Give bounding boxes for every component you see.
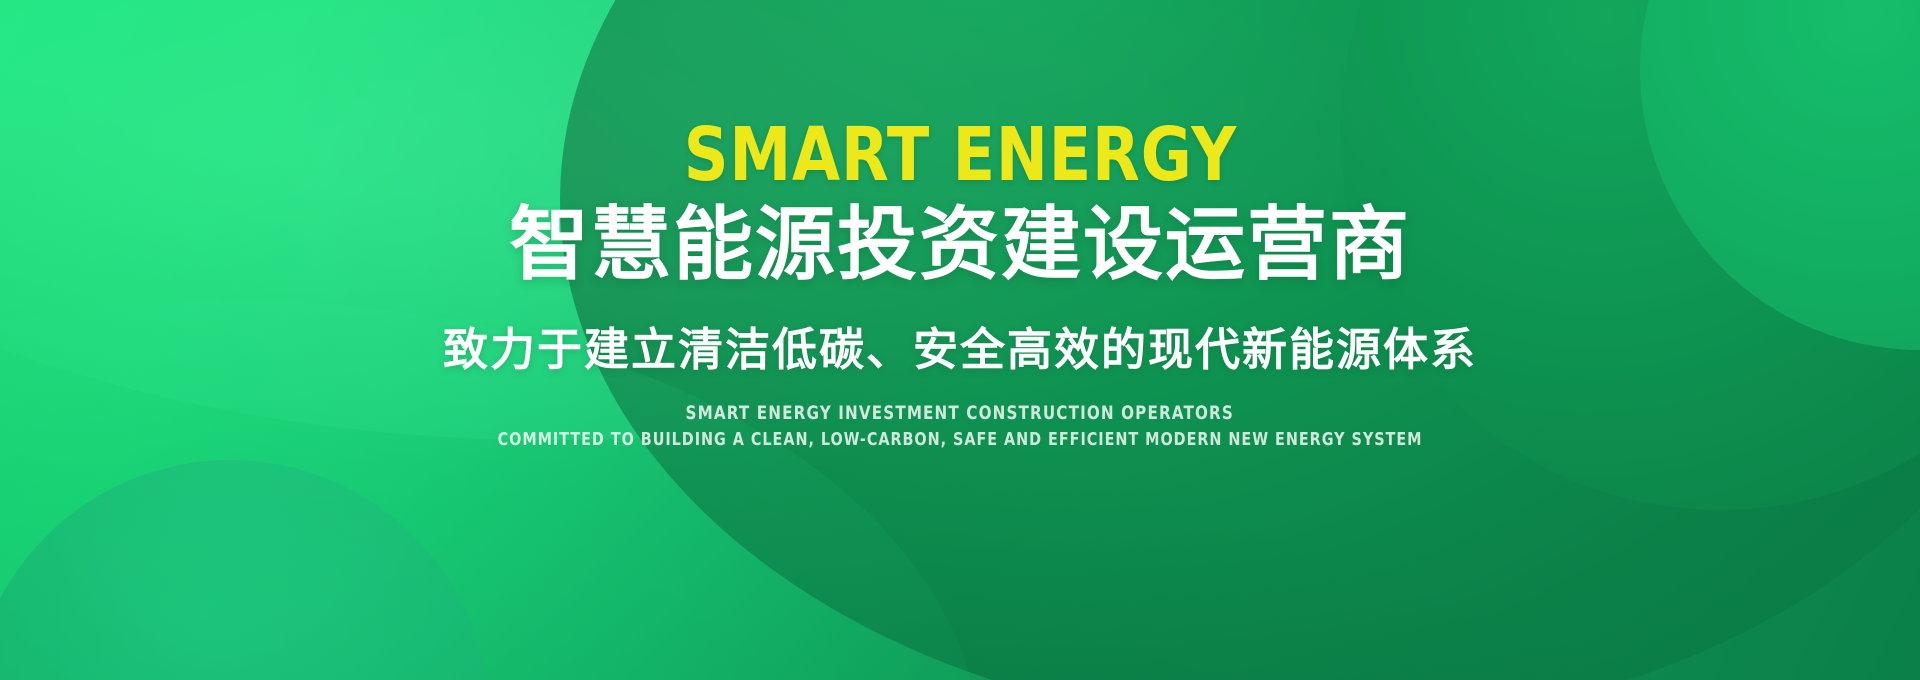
english-tagline-primary: SMART ENERGY INVESTMENT CONSTRUCTION OPE… — [686, 404, 1234, 424]
banner-eyebrow: SMART ENERGY — [683, 118, 1236, 192]
banner-headline: 智慧能源投资建设运营商 — [509, 202, 1411, 288]
hero-banner: SMART ENERGY 智慧能源投资建设运营商 致力于建立清洁低碳、安全高效的… — [0, 0, 1920, 680]
english-tagline-secondary: COMMITTED TO BUILDING A CLEAN, LOW-CARBO… — [498, 431, 1423, 450]
banner-subheadline: 致力于建立清洁低碳、安全高效的现代新能源体系 — [443, 324, 1477, 376]
banner-content: SMART ENERGY 智慧能源投资建设运营商 致力于建立清洁低碳、安全高效的… — [0, 0, 1920, 680]
english-tagline-block: SMART ENERGY INVESTMENT CONSTRUCTION OPE… — [382, 404, 1538, 450]
